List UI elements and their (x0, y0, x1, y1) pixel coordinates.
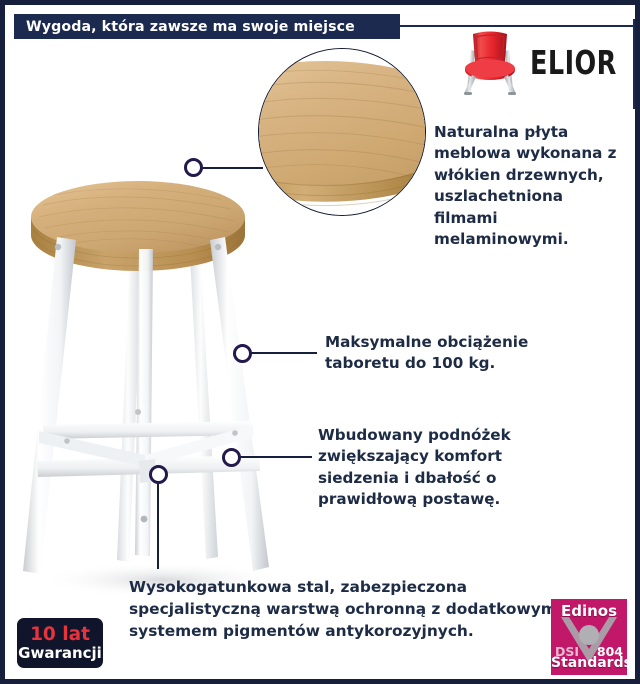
warranty-years: 10 lat (30, 625, 90, 644)
callout-marker-footrest (222, 448, 241, 467)
warranty-badge: 10 lat Gwarancji (17, 618, 103, 668)
callout-leader-2 (251, 352, 317, 354)
edinos-certificate-badge: Edinos DSI 804 Standards (551, 599, 627, 675)
brand-logo: ELIOR (460, 27, 635, 97)
callout-leader-1 (201, 167, 263, 169)
infographic-root: Wygoda, która zawsze ma swoje miejsce (0, 0, 640, 684)
callout-marker-steel (149, 465, 168, 484)
edinos-bottom-label: Standards (551, 655, 627, 671)
brand-name: ELIOR (530, 43, 617, 82)
page-title: Wygoda, która zawsze ma swoje miejsce (26, 19, 355, 35)
edinos-brand: Edinos (551, 602, 627, 620)
page-title-bar: Wygoda, która zawsze ma swoje miejsce (14, 14, 400, 39)
infographic-canvas: Wygoda, która zawsze ma swoje miejsce (5, 5, 635, 679)
wood-grain-zoom-circle (258, 48, 426, 216)
callout-text-1: Naturalna płyta meblowa wykonana z włóki… (434, 122, 624, 250)
callout-text-2: Maksymalne obciążenie taboretu do 100 kg… (325, 332, 585, 375)
callout-text-3: Wbudowany podnóżek zwiększający komfort … (318, 425, 583, 511)
warranty-word: Gwarancji (18, 645, 102, 662)
red-chair-icon (460, 28, 520, 96)
callout-marker-load (233, 344, 252, 363)
callout-marker-seat (184, 158, 203, 177)
callout-text-4: Wysokogatunkowa stal, zabezpieczona spec… (129, 577, 559, 642)
callout-leader-4 (157, 481, 159, 569)
callout-leader-3 (240, 456, 312, 458)
